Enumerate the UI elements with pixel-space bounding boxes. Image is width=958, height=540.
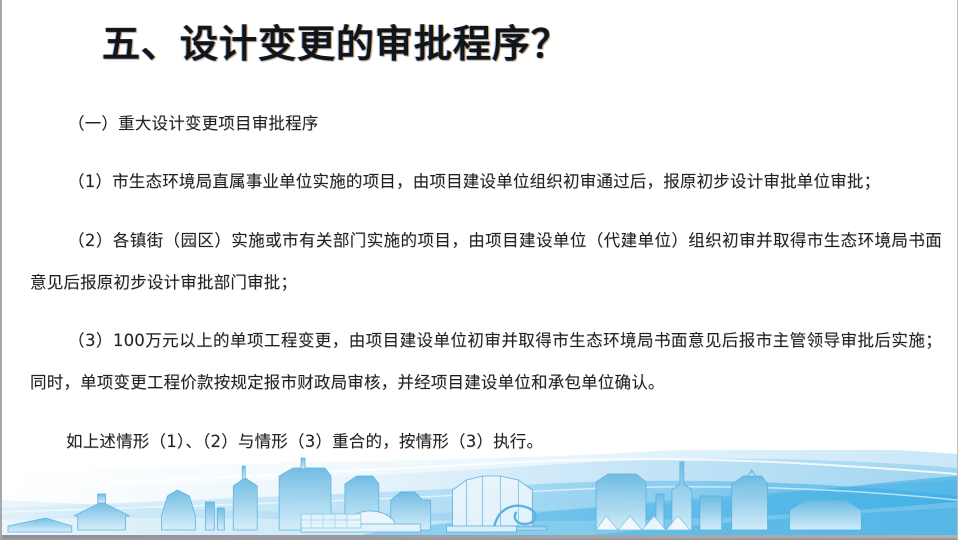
paragraph-item-1: （1）市生态环境局直属事业单位实施的项目，由项目建设单位组织初审通过后，报原初步… [30,161,942,203]
footer-decoration [2,450,957,538]
paragraph-section-one-heading: （一）重大设计变更项目审批程序 [30,103,942,145]
page-title: 五、设计变更的审批程序？ [102,18,902,70]
paragraph-item-2: （2）各镇街（园区）实施或市有关部门实施的项目，由项目建设单位（代建单位）组织初… [30,220,942,304]
slide-canvas: 五、设计变更的审批程序？ （一）重大设计变更项目审批程序 （1）市生态环境局直属… [0,0,958,540]
footer-baseline [2,535,957,538]
title-area: 五、设计变更的审批程序？ [102,18,902,72]
paragraph-item-3: （3）100万元以上的单项工程变更，由项目建设单位初审并取得市生态环境局书面意见… [30,320,942,404]
